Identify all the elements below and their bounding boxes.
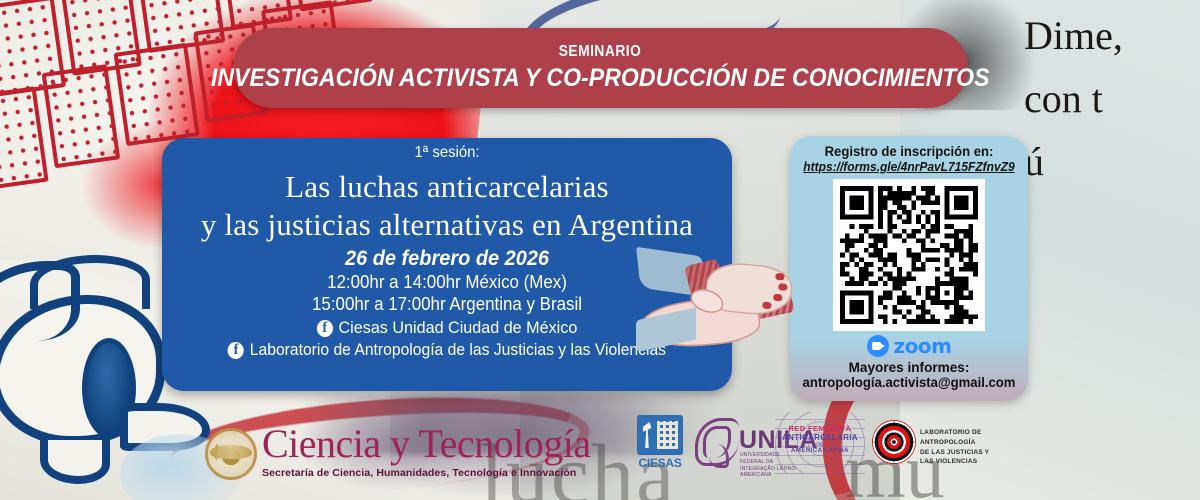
ciencia-y-tecnologia-logo: Ciencia y Tecnología Secretaría de Cienc… xyxy=(262,424,591,479)
laboratorio-name: LABORATORIO DE ANTROPOLOGÍA DE LAS JUSTI… xyxy=(920,428,992,467)
session-time-argentina: 15:00hr a 17:00hr Argentina y Brasil xyxy=(179,294,715,315)
registration-panel: Registro de inscripción en: https://form… xyxy=(790,136,1028,401)
seminar-headline: INVESTIGACIÓN ACTIVISTA Y CO-PRODUCCIÓN … xyxy=(211,64,990,93)
qr-code-canvas xyxy=(840,186,978,324)
ciesas-emblem-icon xyxy=(637,415,683,455)
facebook-icon: f xyxy=(317,320,333,337)
session-title-line-1: Las luchas anticarcelarias xyxy=(162,169,732,205)
red-spiral-icon xyxy=(872,420,916,464)
zoom-logo: zoom xyxy=(790,334,1028,358)
mexican-government-seal-icon xyxy=(205,428,257,480)
background-right-text: Dime, con t ú xyxy=(1024,4,1200,194)
red-feminista-line-1: RED FEMINISTA xyxy=(775,424,865,433)
session-title-line-2: y las justicias alternativas en Argentin… xyxy=(162,207,732,243)
red-feminista-logo: RED FEMINISTA ANTICARCELARIA DE AMÉRICA … xyxy=(775,412,865,474)
sponsor-logo-strip: Ciencia y Tecnología Secretaría de Cienc… xyxy=(0,410,1200,496)
seminar-banner: SEMINARIO INVESTIGACIÓN ACTIVISTA Y CO-P… xyxy=(233,28,968,108)
qr-code[interactable] xyxy=(833,179,985,331)
laboratorio-line-2: DE LAS JUSTICIAS Y LAS VIOLENCIAS xyxy=(920,448,992,468)
laboratorio-line-1: LABORATORIO DE ANTROPOLOGÍA xyxy=(920,428,992,448)
laboratorio-antropologia-logo: LABORATORIO DE ANTROPOLOGÍA DE LAS JUSTI… xyxy=(872,418,992,470)
session-time-mexico: 12:00hr a 14:00hr México (Mex) xyxy=(179,272,715,293)
ciesas-wordmark: CIESAS xyxy=(637,456,683,470)
facebook-page-laboratorio-label: Laboratorio de Antropología de las Justi… xyxy=(250,341,666,360)
video-camera-icon xyxy=(867,335,889,357)
clasped-hands-illustration xyxy=(636,248,786,353)
red-feminista-line-4: AMÉRICA LATINA xyxy=(775,448,865,454)
background-right-text-line-3: ú xyxy=(1024,130,1200,193)
registration-label: Registro de inscripción en: xyxy=(794,144,1025,159)
zoom-wordmark: zoom xyxy=(894,334,952,358)
ciesas-logo: CIESAS xyxy=(637,415,683,471)
session-number: 1ª sesión: xyxy=(182,144,712,162)
registration-url[interactable]: https://forms.gle/4nrPavL715FZfnvZ9 xyxy=(795,160,1023,174)
contact-email[interactable]: antropología.activista@gmail.com xyxy=(794,375,1025,390)
red-feminista-line-2: ANTICARCELARIA xyxy=(775,433,865,442)
background-right-text-line-2: con t xyxy=(1024,67,1200,130)
facebook-page-ciesas-label: Ciesas Unidad Ciudad de México xyxy=(339,318,578,338)
more-info-label: Mayores informes: xyxy=(794,359,1025,375)
background-right-text-line-1: Dime, xyxy=(1024,4,1200,67)
seminar-kicker: SEMINARIO xyxy=(559,43,642,61)
ciencia-y-tecnologia-subtitle: Secretaría de Ciencia, Humanidades, Tecn… xyxy=(262,467,591,479)
ciencia-y-tecnologia-title: Ciencia y Tecnología xyxy=(262,424,591,464)
facebook-icon: f xyxy=(228,342,244,359)
